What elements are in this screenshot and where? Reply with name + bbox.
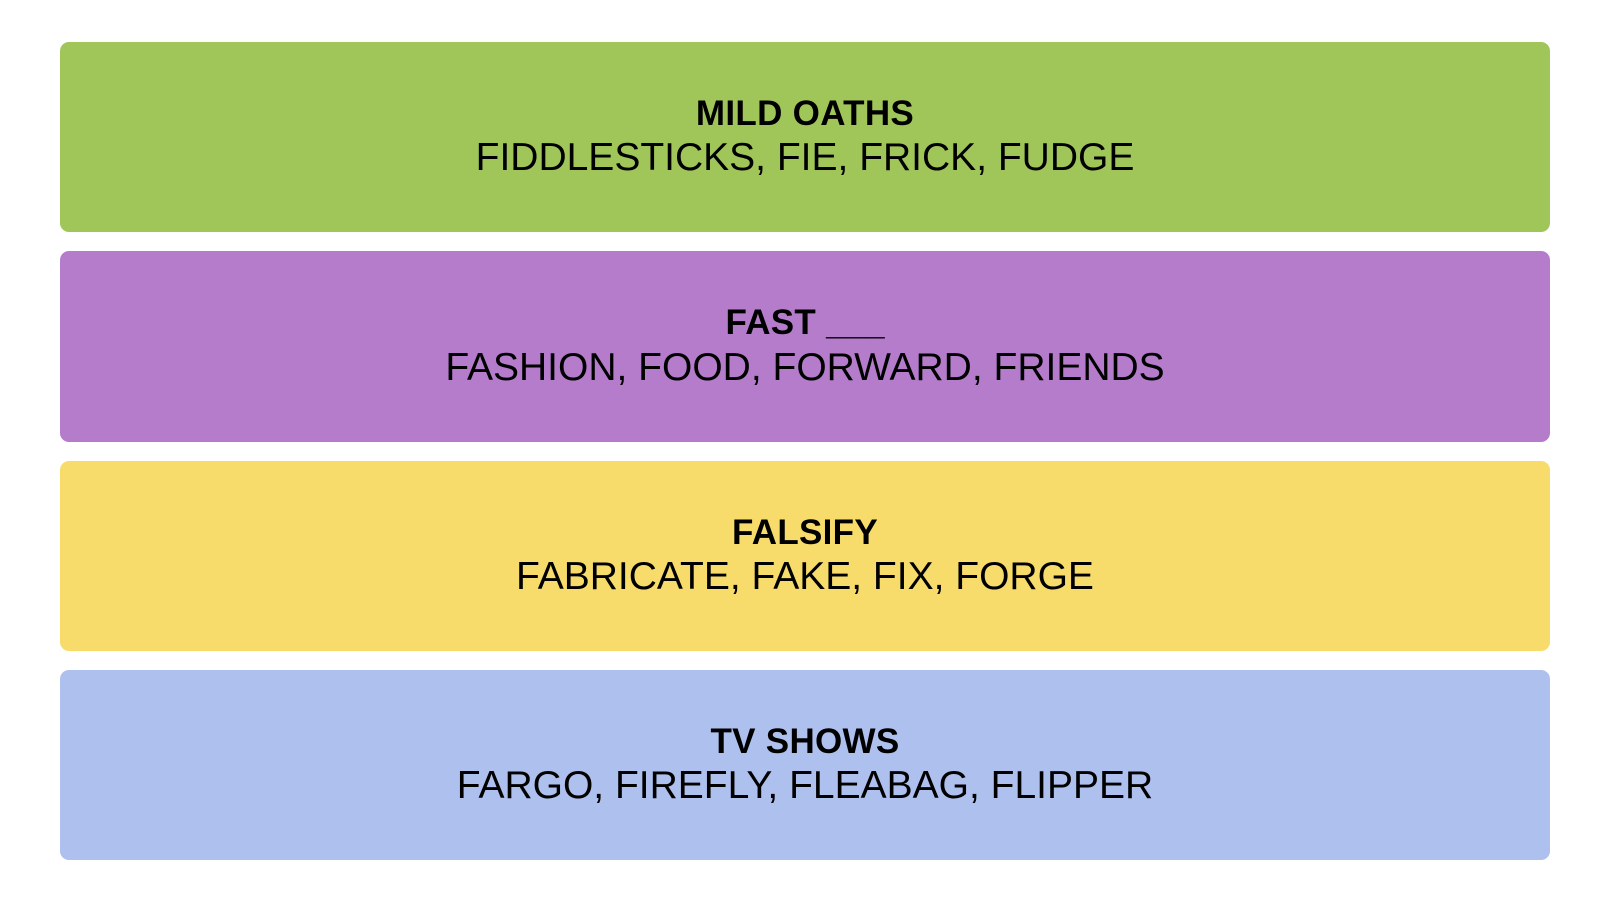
category-title: MILD OATHS — [696, 93, 914, 134]
category-members: FASHION, FOOD, FORWARD, FRIENDS — [445, 346, 1164, 391]
category-title: FAST ___ — [725, 302, 884, 343]
category-title-text: FAST — [725, 303, 816, 342]
category-title-blank: ___ — [826, 303, 884, 342]
category-members: FABRICATE, FAKE, FIX, FORGE — [516, 555, 1094, 600]
category-card-mild-oaths[interactable]: MILD OATHS FIDDLESTICKS, FIE, FRICK, FUD… — [60, 42, 1550, 232]
category-title: FALSIFY — [732, 512, 878, 553]
category-members: FARGO, FIREFLY, FLEABAG, FLIPPER — [457, 764, 1153, 809]
connections-solution-board: MILD OATHS FIDDLESTICKS, FIE, FRICK, FUD… — [0, 0, 1600, 900]
category-title-text: FALSIFY — [732, 513, 878, 552]
category-title: TV SHOWS — [710, 721, 899, 762]
category-card-tv-shows[interactable]: TV SHOWS FARGO, FIREFLY, FLEABAG, FLIPPE… — [60, 670, 1550, 860]
category-card-fast[interactable]: FAST ___ FASHION, FOOD, FORWARD, FRIENDS — [60, 251, 1550, 441]
category-card-falsify[interactable]: FALSIFY FABRICATE, FAKE, FIX, FORGE — [60, 461, 1550, 651]
category-title-text: MILD OATHS — [696, 94, 914, 133]
category-members: FIDDLESTICKS, FIE, FRICK, FUDGE — [476, 136, 1135, 181]
category-title-text: TV SHOWS — [710, 722, 899, 761]
